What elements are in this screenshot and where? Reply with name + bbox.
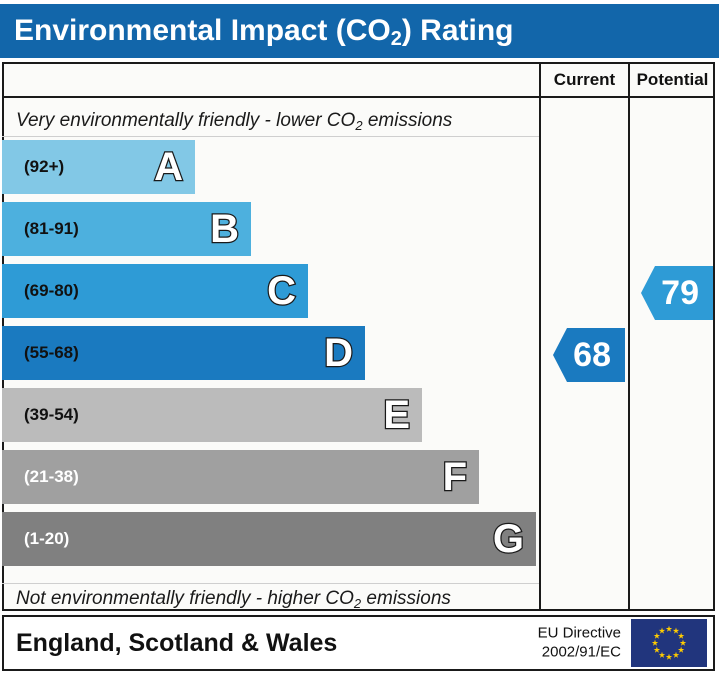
chart-title-bar: Environmental Impact (CO2) Rating [0, 4, 719, 58]
caption-bottom: Not environmentally friendly - higher CO… [16, 588, 451, 610]
band-letter-label: A [154, 147, 183, 187]
band-row: (92+) A [2, 140, 195, 194]
band-row: (1-20) G [2, 512, 536, 566]
band-letter-label: G [493, 519, 524, 559]
band-letter-label: C [267, 271, 296, 311]
footer-directive: EU Directive 2002/91/EC [538, 624, 621, 662]
caption-bottom-pre: Not environmentally friendly - higher CO [16, 588, 354, 609]
column-header-current: Current [541, 64, 628, 96]
caption-top-rule [2, 136, 539, 137]
potential-rating-badge: 79 [641, 266, 713, 320]
band-letter-label: B [210, 209, 239, 249]
chart-footer: England, Scotland & Wales EU Directive 2… [2, 615, 715, 671]
band-range-label: (1-20) [2, 529, 69, 549]
caption-top-post: emissions [363, 110, 453, 131]
eu-flag-icon [631, 619, 707, 667]
band-row: (69-80) C [2, 264, 308, 318]
band-range-label: (92+) [2, 157, 64, 177]
band-range-label: (39-54) [2, 405, 79, 425]
band-row: (81-91) B [2, 202, 251, 256]
current-rating-badge: 68 [553, 328, 625, 382]
caption-top-pre: Very environmentally friendly - lower CO [16, 110, 355, 131]
footer-region-label: England, Scotland & Wales [4, 629, 337, 658]
page-title-main: Environmental Impact (CO [14, 14, 391, 47]
caption-top-subscript: 2 [355, 118, 362, 133]
caption-top: Very environmentally friendly - lower CO… [16, 110, 452, 132]
caption-bottom-rule [2, 583, 539, 584]
band-letter-label: E [383, 395, 410, 435]
column-divider-potential [628, 62, 630, 611]
column-header-potential: Potential [630, 64, 715, 96]
band-range-label: (81-91) [2, 219, 79, 239]
page-title: Environmental Impact (CO2) Rating [0, 14, 514, 48]
footer-directive-line2: 2002/91/EC [538, 643, 621, 662]
band-row: (39-54) E [2, 388, 422, 442]
page-title-tail: ) Rating [402, 14, 514, 47]
epc-environmental-impact-chart: Environmental Impact (CO2) Rating Curren… [0, 0, 719, 675]
caption-bottom-subscript: 2 [354, 596, 361, 611]
footer-directive-line1: EU Directive [538, 624, 621, 643]
column-divider-current [539, 62, 541, 611]
caption-bottom-post: emissions [361, 588, 451, 609]
page-title-subscript: 2 [391, 28, 402, 50]
band-row: (55-68) D [2, 326, 365, 380]
band-letter-label: D [324, 333, 353, 373]
band-range-label: (69-80) [2, 281, 79, 301]
band-range-label: (21-38) [2, 467, 79, 487]
band-letter-label: F [443, 457, 467, 497]
band-range-label: (55-68) [2, 343, 79, 363]
band-row: (21-38) F [2, 450, 479, 504]
